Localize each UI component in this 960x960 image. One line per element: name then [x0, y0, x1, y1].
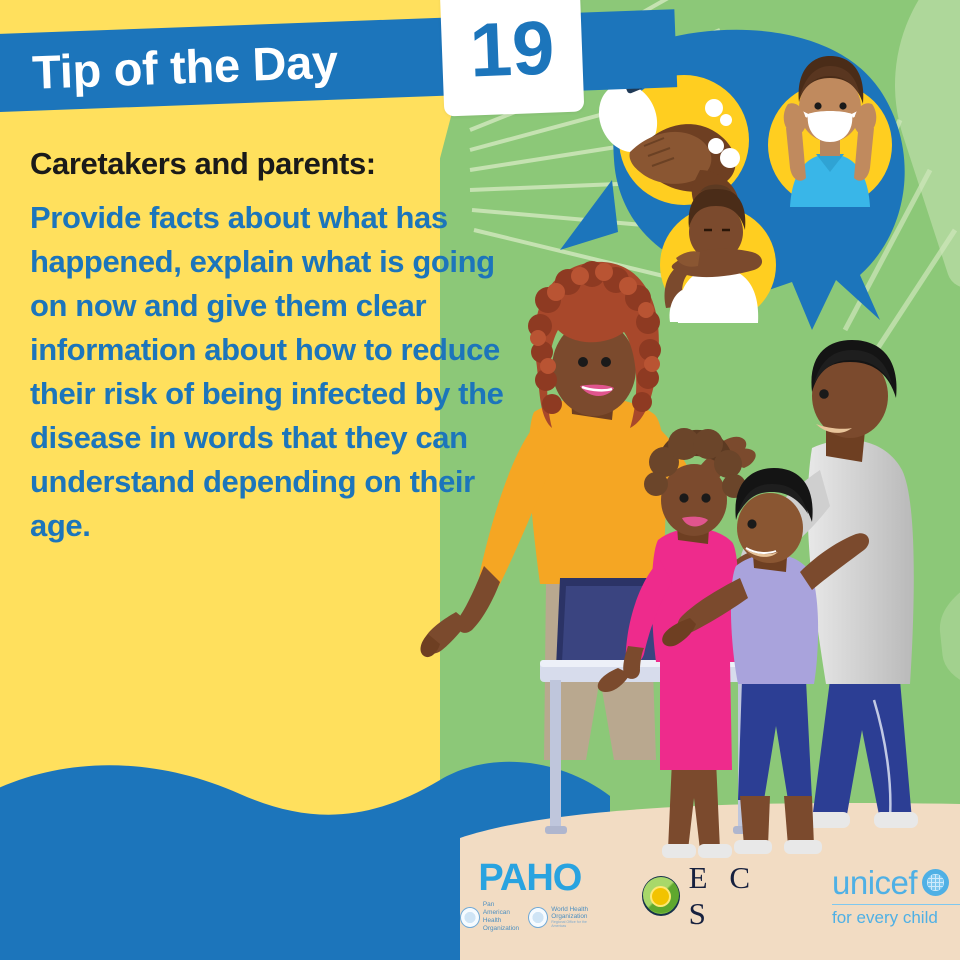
day-number: 19: [440, 0, 585, 117]
leaf-decoration: [934, 548, 960, 702]
paho-sublabels: Pan American Health Organization World H…: [460, 901, 600, 932]
unicef-logo: unicef for every child: [832, 866, 960, 927]
unicef-top-row: unicef: [832, 866, 949, 899]
who-emblem-icon: [528, 907, 548, 928]
ecs-sun-icon: [652, 888, 669, 905]
who-sublabel-text: World Health Organization Regional Offic…: [551, 906, 599, 929]
tip-of-the-day-poster: Tip of the Day 19 Caretakers and parents…: [0, 0, 960, 960]
ecs-emblem-icon: [642, 876, 680, 916]
unicef-divider: [832, 904, 960, 906]
paho-sub-line2: Health: [483, 917, 520, 925]
paho-sub-line3: Organization: [483, 925, 520, 933]
world-health-org-unit: World Health Organization Regional Offic…: [528, 901, 599, 932]
unicef-tagline: for every child: [832, 909, 938, 926]
tip-copy-block: Caretakers and parents: Provide facts ab…: [30, 146, 520, 548]
tip-heading: Caretakers and parents:: [30, 146, 520, 182]
paho-wordmark: PAHO: [478, 859, 581, 897]
paho-sub-line1: Pan American: [483, 901, 520, 917]
unicef-wordmark: unicef: [832, 866, 917, 899]
un-globe-icon: [922, 869, 949, 896]
pan-american-health-org-unit: Pan American Health Organization: [460, 901, 520, 932]
paho-emblem-icon: [460, 907, 480, 928]
ecs-wordmark: E C S: [689, 860, 790, 932]
who-sub-fine-print: Regional Office for the Americas: [551, 921, 599, 928]
ecs-logo: E C S: [642, 860, 790, 932]
partner-logo-row: PAHO Pan American Health Organization Wo…: [460, 856, 960, 936]
who-sub-line1: World Health: [551, 906, 599, 914]
paho-sublabel-text: Pan American Health Organization: [483, 901, 520, 932]
palm-leaf-decoration: [852, 0, 960, 293]
paho-logo: PAHO Pan American Health Organization Wo…: [460, 859, 600, 932]
tip-body-text: Provide facts about what has happened, e…: [30, 196, 520, 548]
